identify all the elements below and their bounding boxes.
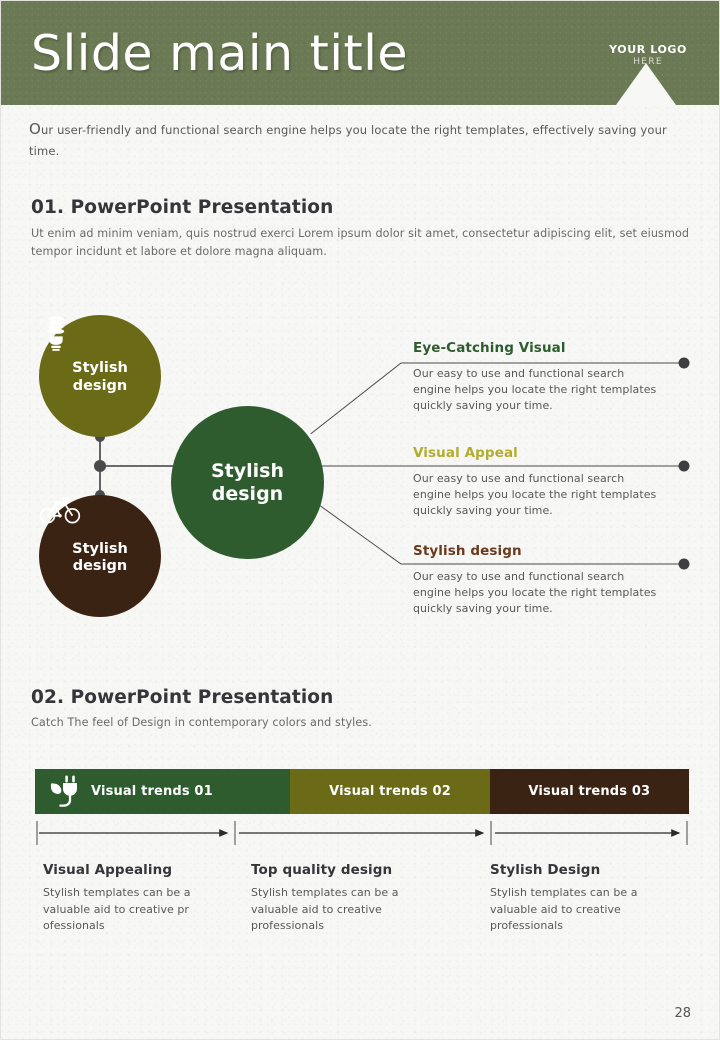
- trend-segment-02-label: Visual trends 02: [329, 784, 451, 799]
- header-notch-triangle: [616, 63, 676, 105]
- bottom-column-1-title: Visual Appealing: [43, 862, 233, 878]
- trend-segment-01[interactable]: Visual trends 01: [35, 769, 290, 814]
- logo-main-text: YOUR LOGO: [609, 43, 687, 56]
- page-title: Slide main title: [31, 25, 408, 82]
- diagram-item-3-title: Stylish design: [413, 543, 522, 559]
- timeline-arrows-svg: [35, 819, 689, 849]
- bicycle-icon: [39, 495, 81, 525]
- bottom-column-3-title: Stylish Design: [490, 862, 680, 878]
- diagram-item-2-title: Visual Appeal: [413, 445, 518, 461]
- trend-segment-02[interactable]: Visual trends 02: [290, 769, 489, 814]
- diagram-circle-bottom-label: Stylish design: [72, 541, 128, 575]
- bottom-column-1: Visual Appealing Stylish templates can b…: [43, 862, 233, 935]
- bottom-column-1-body: Stylish templates can be a valuable aid …: [43, 885, 233, 935]
- page-number: 28: [674, 1006, 691, 1021]
- diagram-item-1-body: Our easy to use and functional search en…: [413, 366, 663, 414]
- section-2-body: Catch The feel of Design in contemporary…: [31, 714, 691, 732]
- trend-segment-01-label: Visual trends 01: [91, 784, 213, 799]
- diagram-circle-bottom[interactable]: Stylish design: [39, 495, 161, 617]
- section-2-title: 02. PowerPoint Presentation: [31, 687, 333, 708]
- diagram-circle-center-label: Stylish design: [211, 460, 284, 506]
- intro-dropcap: O: [29, 120, 41, 138]
- timeline-arrows: [35, 819, 689, 849]
- bottom-column-2-title: Top quality design: [251, 862, 441, 878]
- bottom-column-2-body: Stylish templates can be a valuable aid …: [251, 885, 441, 935]
- diagram-item-1-title: Eye-Catching Visual: [413, 340, 566, 356]
- eco-plug-icon: [49, 775, 81, 808]
- diagram-item-3-body: Our easy to use and functional search en…: [413, 569, 663, 617]
- trend-segment-03-label: Visual trends 03: [528, 784, 650, 799]
- bottom-column-3-body: Stylish templates can be a valuable aid …: [490, 885, 680, 935]
- diagram-item-2-body: Our easy to use and functional search en…: [413, 471, 663, 519]
- lightbulb-cfl-icon: [39, 315, 73, 353]
- bottom-column-3: Stylish Design Stylish templates can be …: [490, 862, 680, 935]
- section-1-body: Ut enim ad minim veniam, quis nostrud ex…: [31, 225, 691, 261]
- diagram-circle-top[interactable]: Stylish design: [39, 315, 161, 437]
- visual-trends-bar: Visual trends 01 Visual trends 02 Visual…: [35, 769, 689, 814]
- intro-paragraph: Our user-friendly and functional search …: [29, 117, 701, 161]
- bottom-column-2: Top quality design Stylish templates can…: [251, 862, 441, 935]
- slide-canvas: Slide main title YOUR LOGO HERE Our user…: [0, 0, 720, 1040]
- intro-text: ur user-friendly and functional search e…: [29, 123, 667, 158]
- trend-segment-03[interactable]: Visual trends 03: [490, 769, 689, 814]
- diagram-circle-center[interactable]: Stylish design: [171, 406, 324, 559]
- diagram-circle-top-label: Stylish design: [72, 360, 128, 394]
- section-1-title: 01. PowerPoint Presentation: [31, 197, 333, 218]
